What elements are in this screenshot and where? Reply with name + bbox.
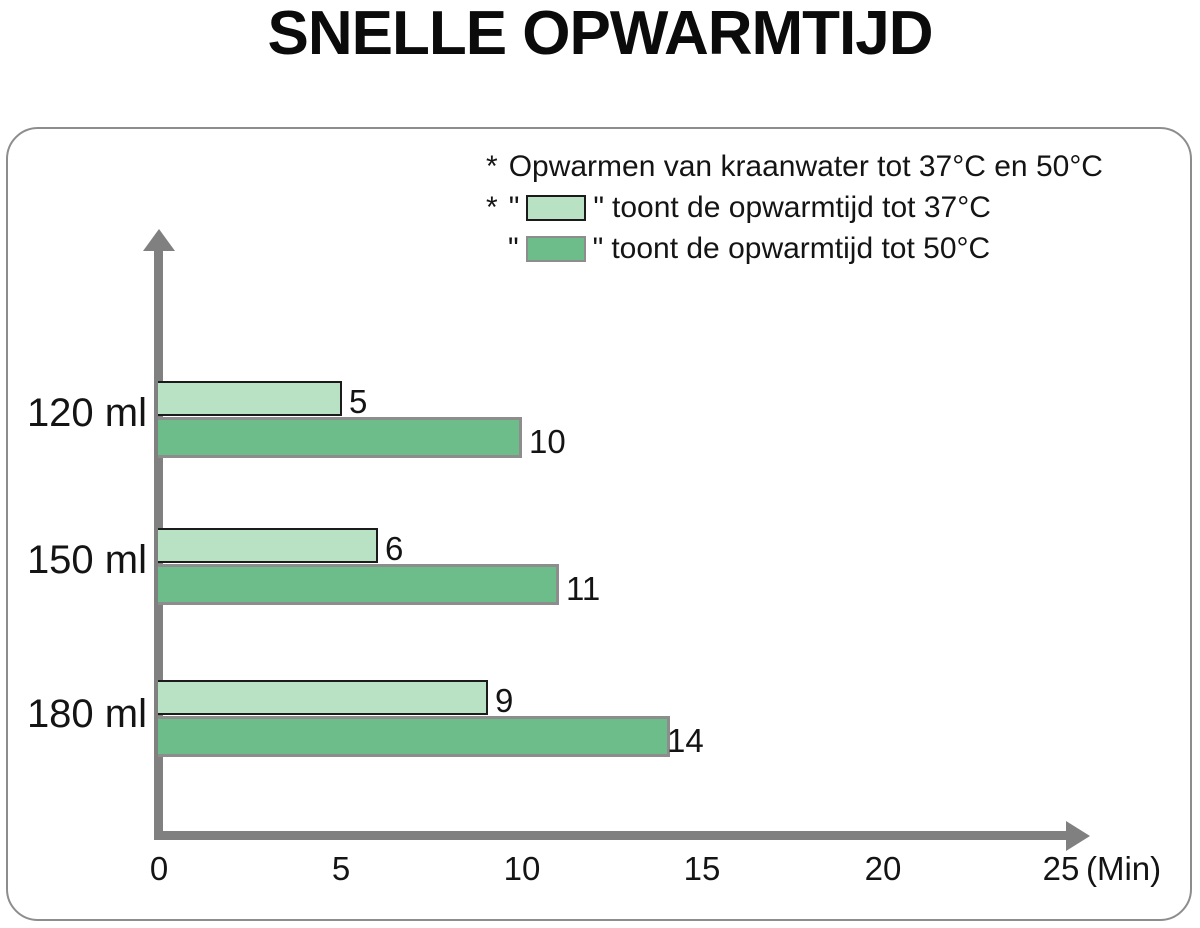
category-label-120ml: 120 ml	[27, 392, 147, 434]
x-axis-arrow-icon	[1066, 821, 1090, 851]
bar-180ml-50c	[158, 716, 670, 757]
bar-value-150ml-50c: 11	[566, 572, 600, 605]
bar-value-180ml-50c: 14	[667, 724, 704, 757]
x-tick-20: 20	[865, 851, 902, 887]
x-tick-5: 5	[332, 851, 350, 887]
bar-150ml-50c	[158, 564, 559, 605]
bar-180ml-37c	[158, 680, 488, 715]
category-label-150ml: 150 ml	[27, 539, 147, 581]
chart-card: * Opwarmen van kraanwater tot 37°C en 50…	[6, 127, 1192, 921]
x-axis-unit-label: (Min)	[1086, 851, 1161, 887]
category-label-180ml: 180 ml	[27, 693, 147, 735]
y-axis-arrow-icon	[143, 229, 175, 251]
bar-value-120ml-37c: 5	[349, 385, 367, 418]
bar-value-150ml-37c: 6	[385, 532, 403, 565]
x-tick-25: 25	[1043, 851, 1080, 887]
bar-150ml-37c	[158, 528, 378, 563]
bar-120ml-50c	[158, 417, 522, 458]
plot-area: 120 ml 150 ml 180 ml 5 10 6 11 9 14 0 5 …	[8, 129, 1194, 923]
page-title: SNELLE OPWARMTIJD	[0, 0, 1200, 68]
bar-value-180ml-37c: 9	[495, 684, 513, 717]
x-axis	[154, 831, 1070, 840]
bar-120ml-37c	[158, 381, 342, 416]
x-tick-0: 0	[150, 851, 168, 887]
x-tick-15: 15	[684, 851, 721, 887]
bar-value-120ml-50c: 10	[529, 425, 566, 458]
x-tick-10: 10	[504, 851, 541, 887]
